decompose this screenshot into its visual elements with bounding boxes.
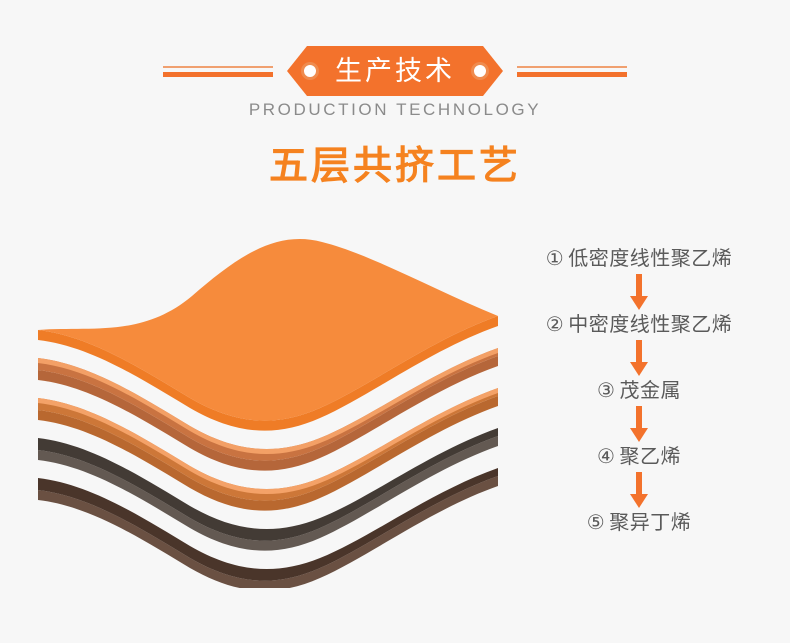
banner-title: 生产技术 — [335, 58, 455, 85]
header-banner-row: 生产技术 — [0, 46, 790, 96]
header-rule-left — [163, 66, 273, 77]
stack-layer-5-face — [38, 468, 498, 581]
legend-item-4: ④聚乙烯 — [505, 446, 773, 468]
arrow-stem — [636, 274, 642, 298]
legend-item-1: ①低密度线性聚乙烯 — [505, 248, 773, 270]
materials-legend-list: ①低密度线性聚乙烯 ②中密度线性聚乙烯 ③茂金属 — [505, 248, 773, 534]
legend-item-5: ⑤聚异丁烯 — [505, 512, 773, 534]
legend-label-1: 低密度线性聚乙烯 — [568, 248, 732, 270]
arrow-down-icon-3 — [630, 406, 648, 442]
page-header: 生产技术 PRODUCTION TECHNOLOGY — [0, 0, 790, 140]
five-layer-stack-illustration — [30, 228, 530, 588]
page-root: 生产技术 PRODUCTION TECHNOLOGY 五层共挤工艺 — [0, 0, 790, 643]
arrow-down-icon-2 — [630, 340, 648, 376]
arrow-down-icon-1 — [630, 274, 648, 310]
header-rule-right-thick — [517, 72, 627, 77]
circle-dot-icon-right — [471, 62, 489, 80]
arrow-head — [630, 494, 648, 508]
legend-item-3: ③茂金属 — [505, 380, 773, 402]
legend-label-2: 中密度线性聚乙烯 — [568, 314, 732, 336]
header-subtitle: PRODUCTION TECHNOLOGY — [0, 101, 790, 118]
arrow-stem — [636, 472, 642, 496]
legend-marker-3: ③ — [597, 380, 615, 402]
header-rule-left-thin — [163, 66, 273, 68]
legend-arrow-1 — [505, 270, 773, 314]
legend-item-2: ②中密度线性聚乙烯 — [505, 314, 773, 336]
legend-label-3: 茂金属 — [619, 380, 681, 402]
circle-dot-icon-left — [301, 62, 319, 80]
legend-arrow-4 — [505, 468, 773, 512]
header-rule-right — [517, 66, 627, 77]
arrow-head — [630, 428, 648, 442]
header-rule-left-thick — [163, 72, 273, 77]
legend-marker-4: ④ — [597, 446, 615, 468]
arrow-down-icon-4 — [630, 472, 648, 508]
page-title: 五层共挤工艺 — [0, 146, 790, 189]
legend-label-4: 聚乙烯 — [619, 446, 681, 468]
legend-arrow-3 — [505, 402, 773, 446]
arrow-head — [630, 296, 648, 310]
arrow-head — [630, 362, 648, 376]
legend-label-5: 聚异丁烯 — [609, 512, 691, 534]
legend-marker-5: ⑤ — [587, 512, 605, 534]
legend-marker-1: ① — [546, 248, 564, 270]
stack-layer-5 — [38, 468, 498, 588]
header-banner: 生产技术 — [287, 46, 503, 96]
stack-layer-1 — [38, 239, 498, 431]
legend-marker-2: ② — [546, 314, 564, 336]
arrow-stem — [636, 406, 642, 430]
legend-arrow-2 — [505, 336, 773, 380]
arrow-stem — [636, 340, 642, 364]
header-rule-right-thin — [517, 66, 627, 68]
stack-layer-4-face — [38, 428, 498, 541]
